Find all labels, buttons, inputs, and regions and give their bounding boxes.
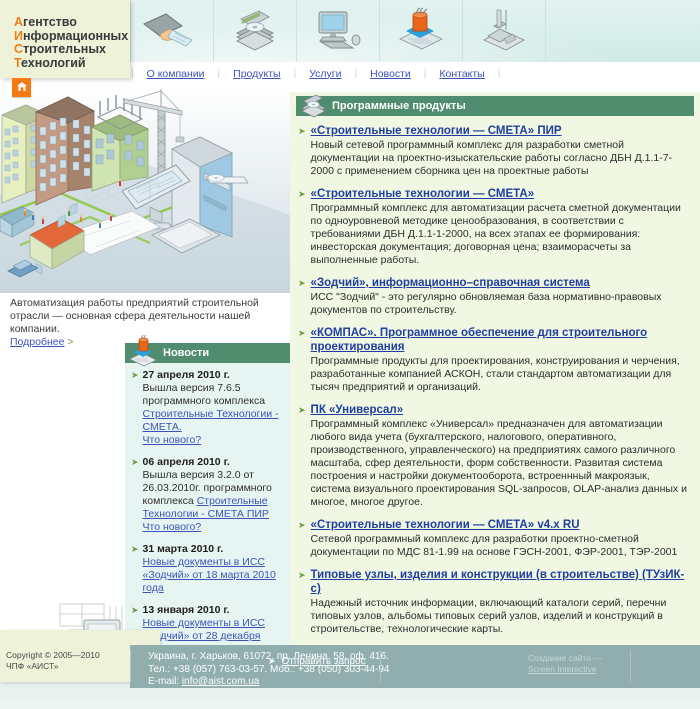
logo-rest-3: троительных bbox=[23, 42, 106, 56]
product-title-link[interactable]: «КОМПАС». Программное обеспечение для ст… bbox=[311, 326, 690, 354]
credit-link[interactable]: Screen Interactive bbox=[528, 664, 597, 674]
product-body: ПК «Универсал» Программный комплекс «Уни… bbox=[311, 403, 690, 509]
footer-credit-column: Создание сайта — Screen Interactive bbox=[510, 645, 700, 688]
product-item: ➤ «Строительные технологии — СМЕТА» ПИР … bbox=[298, 124, 690, 178]
product-item: ➤ «Строительные технологии — СМЕТА» Прог… bbox=[298, 187, 690, 267]
news-item-text: Вышла версия 7.6.5 программного комплекс… bbox=[143, 382, 266, 407]
home-icon[interactable] bbox=[12, 78, 31, 97]
products-list: ➤ «Строительные технологии — СМЕТА» ПИР … bbox=[290, 116, 700, 709]
product-body: «Строительные технологии — СМЕТА» Програ… bbox=[311, 187, 690, 267]
news-panel-title: Новости bbox=[163, 347, 209, 359]
news-item-link-1[interactable]: Новые документы в ИСС «Зодчий» от 18 мар… bbox=[143, 556, 276, 594]
cd-stack-icon bbox=[214, 0, 297, 62]
bullet-icon: ➤ bbox=[298, 568, 311, 636]
bullet-icon: ➤ bbox=[268, 656, 282, 667]
product-description: Новый сетевой программный комплекс для р… bbox=[311, 139, 690, 178]
header-icon-strip bbox=[130, 0, 546, 62]
logo-cap-a: А bbox=[14, 15, 23, 29]
credit-line-1: Создание сайта — bbox=[528, 653, 602, 664]
nav-item-about[interactable]: О компании bbox=[135, 68, 217, 80]
product-item: ➤ «КОМПАС». Программное обеспечение для … bbox=[298, 326, 690, 394]
logo-cap-t: Т bbox=[14, 56, 21, 70]
product-title-link[interactable]: «Строительные технологии — СМЕТА» v4.x R… bbox=[311, 518, 690, 532]
products-panel-header: Программные продукты bbox=[296, 96, 694, 116]
news-item-date: 06 апреля 2010 г. bbox=[143, 456, 282, 469]
product-body: «Зодчий», информационно–справочная систе… bbox=[311, 276, 690, 317]
contact-email-link[interactable]: info@aist.com.ua bbox=[182, 676, 259, 687]
product-description: Программные продукты для проектирования,… bbox=[311, 355, 690, 394]
fax-machine-icon bbox=[463, 0, 546, 62]
desktop-computer-icon bbox=[297, 0, 380, 62]
main-content: Программные продукты ➤ «Строительные тех… bbox=[290, 92, 700, 645]
site-header: Агентство Информационных Строительных Те… bbox=[0, 0, 700, 62]
product-body: «Строительные технологии — СМЕТА» ПИР Но… bbox=[311, 124, 690, 178]
bullet-icon: ➤ bbox=[298, 403, 311, 509]
news-item-body: 06 апреля 2010 г. Вышла версия 3.2.0 от … bbox=[143, 456, 282, 534]
send-request-link[interactable]: Отправить запрос bbox=[282, 656, 366, 667]
contact-email-label: E-mail: bbox=[148, 676, 182, 687]
page-root: Агентство Информационных Строительных Те… bbox=[0, 0, 700, 709]
product-item: ➤ «Строительные технологии — СМЕТА» v4.x… bbox=[298, 518, 690, 559]
product-body: «КОМПАС». Программное обеспечение для ст… bbox=[311, 326, 690, 394]
news-item: ➤ 31 марта 2010 г. Новые документы в ИСС… bbox=[131, 543, 282, 595]
bullet-icon: ➤ bbox=[131, 543, 143, 595]
news-item-body: 27 апреля 2010 г. Вышла версия 7.6.5 про… bbox=[143, 369, 282, 447]
product-title-link[interactable]: Типовые узлы, изделия и конструкции (в с… bbox=[311, 568, 690, 596]
software-products-icon bbox=[298, 91, 330, 124]
nav-item-services[interactable]: Услуги bbox=[297, 68, 353, 80]
hand-card-icon bbox=[130, 0, 214, 62]
nav-item-contacts[interactable]: Контакты bbox=[427, 68, 496, 80]
logo-cap-s: С bbox=[14, 42, 23, 56]
product-title-link[interactable]: ПК «Универсал» bbox=[311, 403, 690, 417]
intro-more-link[interactable]: Подробнее bbox=[10, 336, 64, 348]
bullet-icon: ➤ bbox=[298, 187, 311, 267]
intro-arrow-icon: > bbox=[68, 337, 74, 348]
bullet-icon: ➤ bbox=[131, 369, 143, 447]
bullet-icon: ➤ bbox=[298, 124, 311, 178]
send-request-row[interactable]: ➤ Отправить запрос bbox=[268, 656, 366, 667]
news-item-date: 31 марта 2010 г. bbox=[143, 543, 282, 556]
news-item-body: 31 марта 2010 г. Новые документы в ИСС «… bbox=[143, 543, 282, 595]
product-description: Надежный источник информации, включающий… bbox=[311, 597, 690, 636]
news-item: ➤ 06 апреля 2010 г. Вышла версия 3.2.0 о… bbox=[131, 456, 282, 534]
news-panel-header: Новости bbox=[125, 343, 290, 363]
product-description: Программный комплекс для автоматизации р… bbox=[311, 202, 690, 267]
logo-text-block: Агентство Информационных Строительных Те… bbox=[0, 0, 130, 70]
news-paint-icon bbox=[127, 335, 161, 372]
nav-item-news[interactable]: Новости bbox=[358, 68, 423, 80]
paint-can-blueprint-icon bbox=[380, 0, 463, 62]
left-column: Автоматизация работы предприятий строите… bbox=[0, 85, 290, 645]
product-body: Типовые узлы, изделия и конструкции (в с… bbox=[311, 568, 690, 636]
nav-divider: | bbox=[497, 68, 502, 79]
intro-paragraph: Автоматизация работы предприятий строите… bbox=[10, 297, 270, 336]
product-item: ➤ ПК «Универсал» Программный комплекс «У… bbox=[298, 403, 690, 509]
product-title-link[interactable]: «Строительные технологии — СМЕТА» ПИР bbox=[311, 124, 690, 138]
products-panel-title: Программные продукты bbox=[332, 100, 466, 112]
bullet-icon: ➤ bbox=[298, 518, 311, 559]
news-item-link-1[interactable]: Строительные Технологии - СМЕТА. bbox=[143, 408, 279, 433]
logo-line-1: Агентство bbox=[14, 16, 130, 30]
footer-divider bbox=[130, 650, 131, 683]
product-item: ➤ «Зодчий», информационно–справочная сис… bbox=[298, 276, 690, 317]
news-item-link-2[interactable]: Что нового? bbox=[143, 521, 202, 533]
nav-item-products[interactable]: Продукты bbox=[221, 68, 292, 80]
logo-cap-i: И bbox=[14, 29, 23, 43]
logo-line-4: Технологий bbox=[14, 57, 130, 71]
product-description: Программный комплекс «Универсал» предназ… bbox=[311, 418, 690, 509]
product-title-link[interactable]: «Строительные технологии — СМЕТА» bbox=[311, 187, 690, 201]
news-item: ➤ 27 апреля 2010 г. Вышла версия 7.6.5 п… bbox=[131, 369, 282, 447]
site-credit: Создание сайта — Screen Interactive bbox=[528, 653, 602, 675]
news-item-link-2[interactable]: Что нового? bbox=[143, 434, 202, 446]
logo-line-2: Информационных bbox=[14, 30, 130, 44]
logo-rest-4: ехнологий bbox=[21, 56, 86, 70]
bullet-icon: ➤ bbox=[131, 456, 143, 534]
footer-request-column: ➤ Отправить запрос bbox=[250, 645, 500, 688]
product-description: ИСС "Зодчий" - это регулярно обновляемая… bbox=[311, 291, 690, 317]
logo-line-3: Строительных bbox=[14, 43, 130, 57]
news-item-date: 27 апреля 2010 г. bbox=[143, 369, 282, 382]
product-description: Сетевой программный комплекс для разрабо… bbox=[311, 533, 690, 559]
product-title-link[interactable]: «Зодчий», информационно–справочная систе… bbox=[311, 276, 690, 290]
hero-illustration bbox=[0, 85, 290, 293]
nav-links: | О компании | Продукты | Услуги | Новос… bbox=[130, 62, 501, 85]
product-body: «Строительные технологии — СМЕТА» v4.x R… bbox=[311, 518, 690, 559]
logo-rest-2: нформационных bbox=[23, 29, 128, 43]
bullet-icon: ➤ bbox=[298, 276, 311, 317]
product-item: ➤ Типовые узлы, изделия и конструкции (в… bbox=[298, 568, 690, 636]
site-logo[interactable]: Агентство Информационных Строительных Те… bbox=[0, 0, 130, 78]
logo-rest-1: гентство bbox=[23, 15, 77, 29]
bullet-icon: ➤ bbox=[298, 326, 311, 394]
